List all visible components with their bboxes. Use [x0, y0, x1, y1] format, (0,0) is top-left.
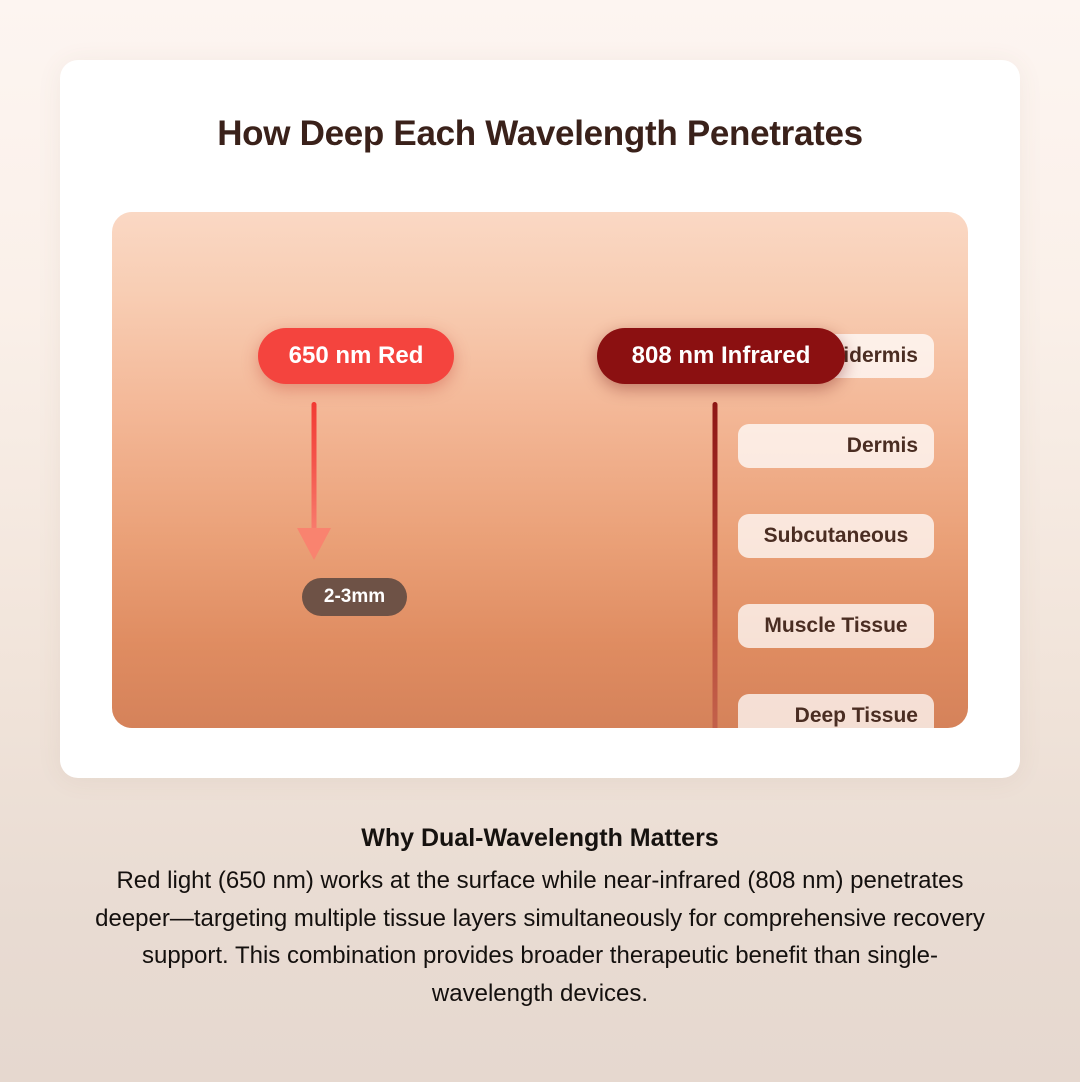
- tissue-layer-muscle-tissue: Muscle Tissue: [738, 604, 934, 648]
- tissue-panel: Epidermis Dermis Subcutaneous Muscle Tis…: [112, 212, 968, 728]
- tissue-layer-dermis: Dermis: [738, 424, 934, 468]
- page-title: How Deep Each Wavelength Penetrates: [60, 114, 1020, 154]
- arrow-shaft: [312, 402, 317, 530]
- tissue-layer-label: Deep Tissue: [795, 704, 918, 728]
- tissue-layer-label: Dermis: [847, 434, 918, 458]
- penetration-arrow-red-icon: [297, 402, 331, 560]
- depth-badge-label: 2-3mm: [324, 586, 385, 608]
- wavelength-pill-red: 650 nm Red: [258, 328, 454, 384]
- arrow-head: [297, 528, 331, 560]
- tissue-layer-label: Subcutaneous: [764, 524, 909, 548]
- wavelength-pill-label: 650 nm Red: [289, 342, 424, 370]
- arrow-shaft: [713, 402, 718, 728]
- wavelength-pill-label: 808 nm Infrared: [632, 342, 811, 370]
- tissue-layer-subcutaneous: Subcutaneous: [738, 514, 934, 558]
- caption-block: Why Dual-Wavelength Matters Red light (6…: [60, 824, 1020, 1012]
- tissue-layer-deep-tissue: Deep Tissue: [738, 694, 934, 728]
- depth-badge-red: 2-3mm: [302, 578, 407, 616]
- wavelength-pill-infrared: 808 nm Infrared: [597, 328, 845, 384]
- caption-title: Why Dual-Wavelength Matters: [60, 824, 1020, 853]
- infographic-card: How Deep Each Wavelength Penetrates Epid…: [60, 60, 1020, 778]
- tissue-layer-label: Muscle Tissue: [764, 614, 907, 638]
- caption-body: Red light (650 nm) works at the surface …: [60, 862, 1020, 1012]
- penetration-arrow-infrared-icon: [698, 402, 732, 728]
